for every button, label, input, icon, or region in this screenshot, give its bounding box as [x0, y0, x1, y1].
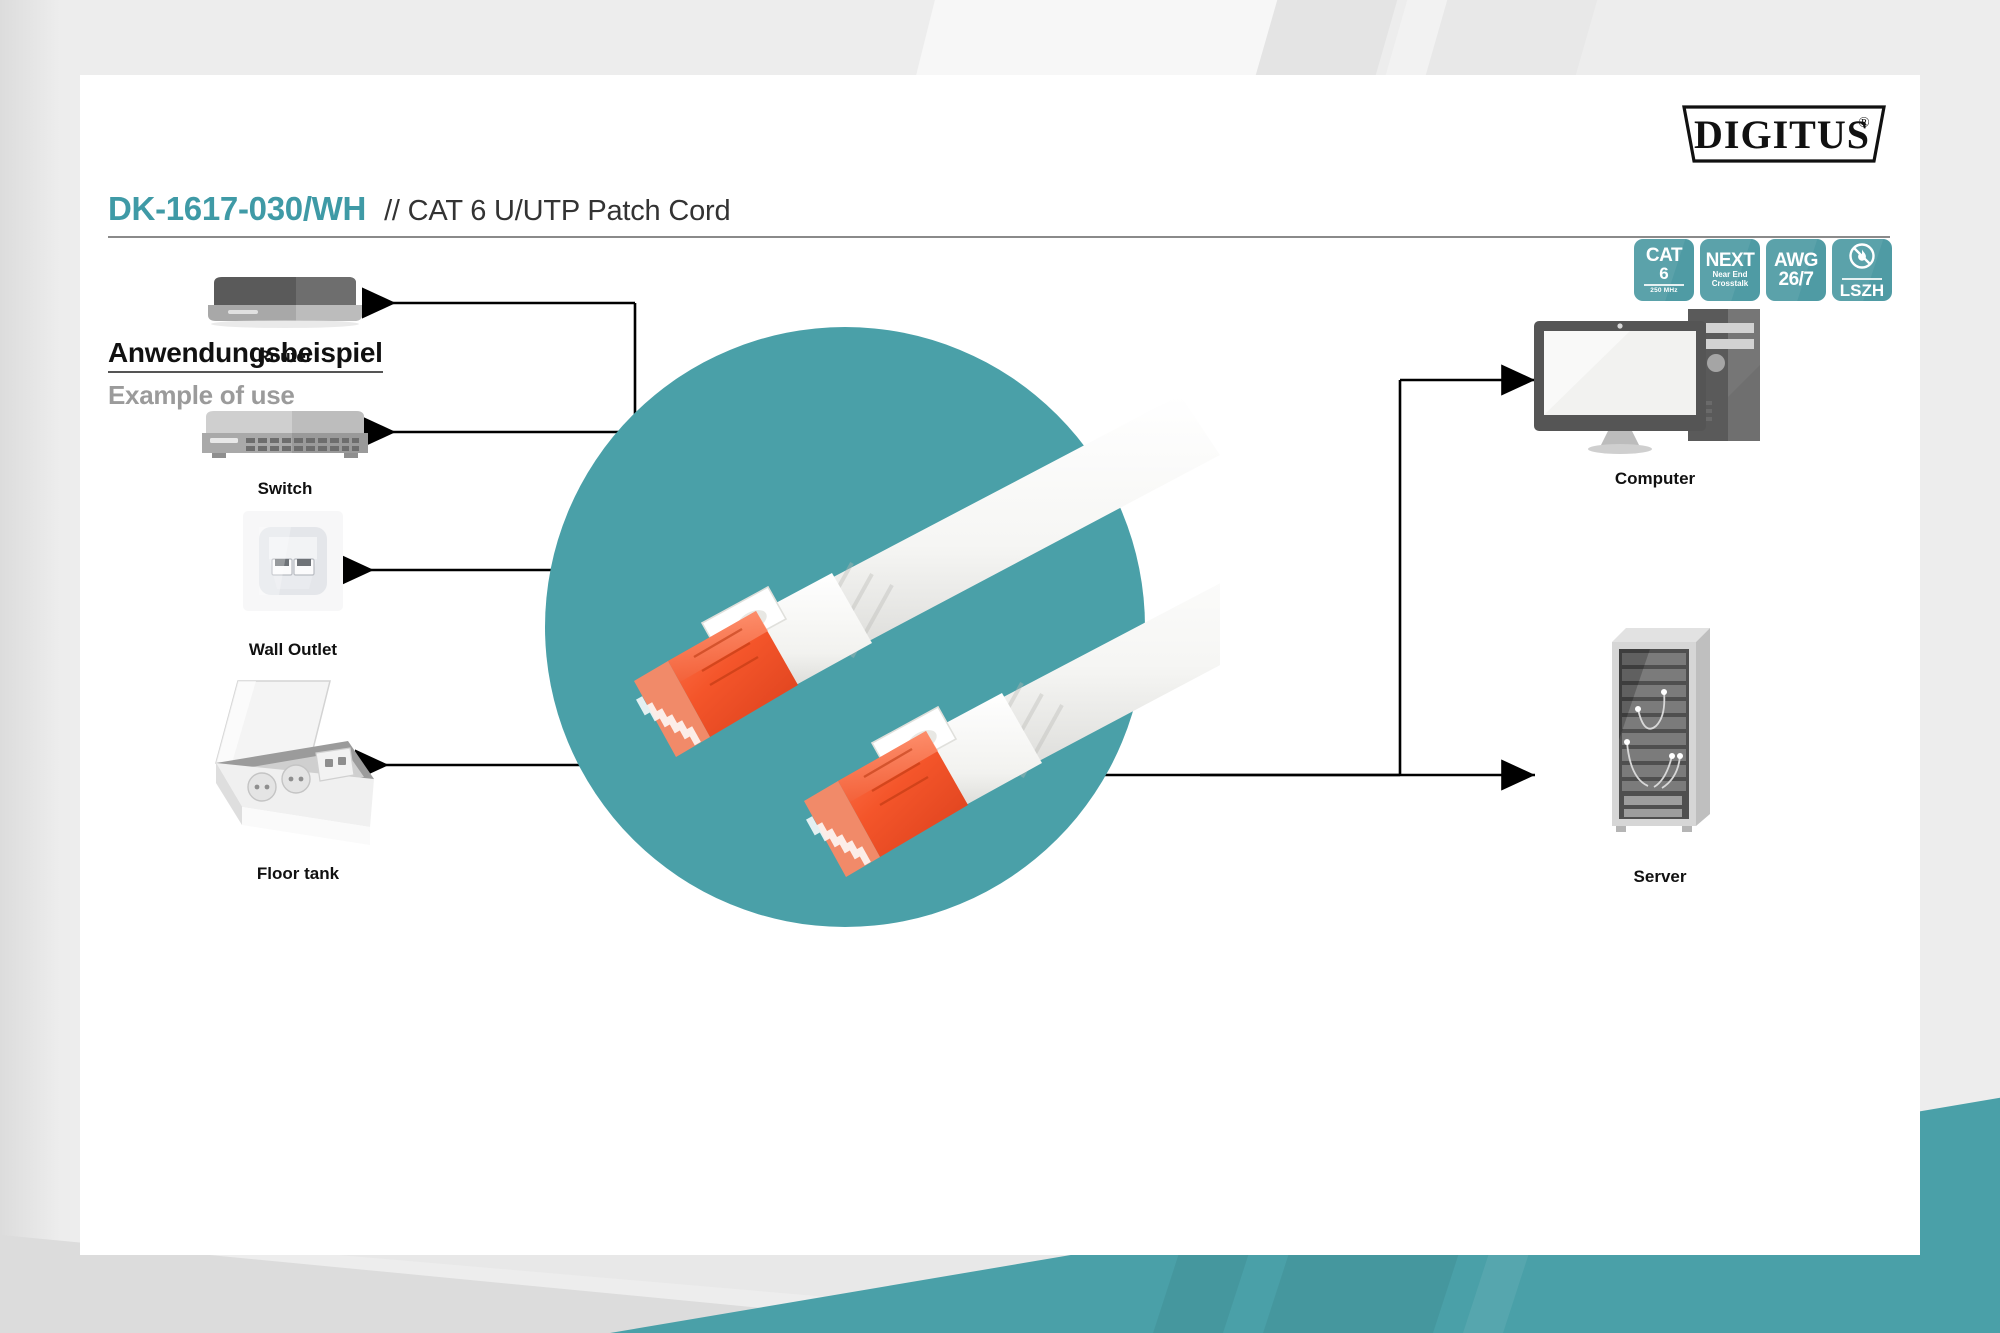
computer-label: Computer [1510, 469, 1800, 489]
node-switch: Switch [190, 403, 380, 499]
node-wall-outlet: Wall Outlet [198, 507, 388, 660]
floor-tank-label: Floor tank [188, 864, 408, 884]
node-floor-tank: Floor tank [188, 675, 408, 884]
switch-label: Switch [190, 479, 380, 499]
server-icon [1550, 620, 1770, 845]
node-server: Server [1550, 620, 1770, 887]
router-icon [190, 271, 380, 338]
application-diagram: Router [80, 75, 1920, 1255]
bg-left-edge [0, 0, 60, 1333]
node-computer: Computer [1510, 305, 1800, 489]
datasheet-page: DIGITUS ® DK-1617-030/WH // CAT 6 U/UTP … [0, 0, 2000, 1333]
wall-outlet-icon [198, 507, 388, 620]
node-router: Router [190, 271, 380, 367]
hero-circle-backdrop [545, 327, 1145, 927]
wall-outlet-label: Wall Outlet [198, 640, 388, 660]
computer-icon [1510, 305, 1800, 460]
floor-tank-icon [188, 675, 408, 855]
server-label: Server [1550, 867, 1770, 887]
switch-icon [190, 403, 380, 470]
router-label: Router [190, 347, 380, 367]
content-card: DIGITUS ® DK-1617-030/WH // CAT 6 U/UTP … [80, 75, 1920, 1255]
